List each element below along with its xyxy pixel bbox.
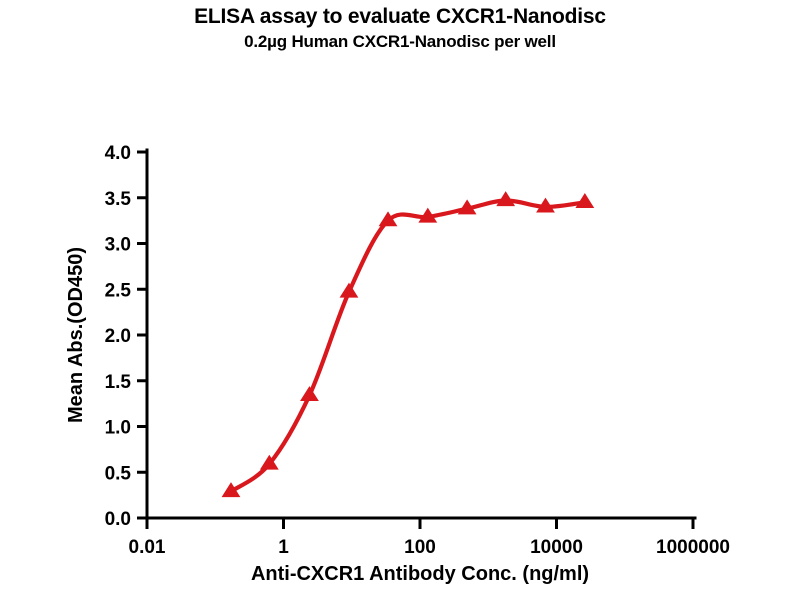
plot-area: 0.00.51.01.52.02.53.03.54.0 0.0111001000…: [0, 0, 800, 600]
y-axis-tick-label: 2.0: [105, 326, 131, 347]
y-axis-tick-label: 0.5: [105, 463, 132, 484]
x-axis-tick-label: 0.01: [129, 537, 166, 558]
x-axis-tick-label: 100: [404, 537, 436, 558]
y-axis-tick-label: 2.5: [105, 280, 132, 301]
y-axis-tick-label: 1.5: [105, 372, 132, 393]
x-axis-tick-label: 1: [278, 537, 289, 558]
x-axis-tick-label: 1000000: [656, 537, 730, 558]
y-axis-tick-label: 4.0: [105, 143, 131, 164]
data-point-marker: [576, 194, 593, 208]
chart-figure: ELISA assay to evaluate CXCR1-Nanodisc 0…: [0, 0, 800, 600]
y-axis-tick-label: 3.5: [105, 189, 132, 210]
y-axis-tick-label: 3.0: [105, 235, 131, 256]
data-point-marker: [340, 284, 357, 298]
x-axis-title: Anti-CXCR1 Antibody Conc. (ng/ml): [251, 563, 589, 585]
data-point-marker: [301, 387, 318, 401]
y-axis-tick-label: 1.0: [105, 418, 131, 439]
x-axis-tick-label: 10000: [530, 537, 583, 558]
data-curve: [231, 200, 585, 491]
y-axis-title: Mean Abs.(OD450): [65, 247, 87, 423]
y-axis-tick-label: 0.0: [105, 509, 131, 530]
